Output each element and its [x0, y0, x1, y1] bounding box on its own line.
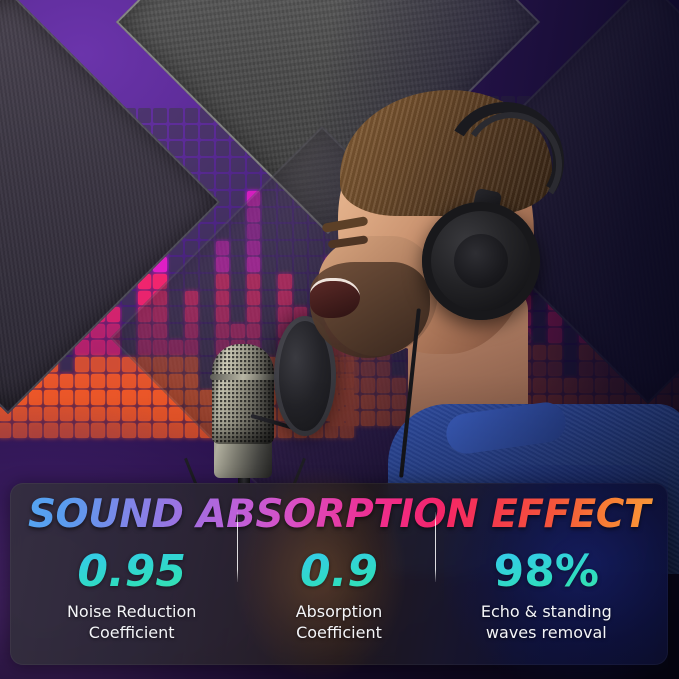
- product-banner: SOUND ABSORPTION EFFECT 0.95 Noise Reduc…: [0, 0, 679, 679]
- stats-row: 0.95 Noise Reduction Coefficient 0.9 Abs…: [10, 547, 668, 643]
- stat-divider-1: [237, 512, 238, 582]
- stat-absorption-coefficient: 0.9 Absorption Coefficient: [235, 547, 442, 643]
- stat-label-line2: Coefficient: [296, 623, 382, 642]
- stat-noise-reduction-coefficient: 0.95 Noise Reduction Coefficient: [28, 547, 235, 643]
- sound-absorption-panel: SOUND ABSORPTION EFFECT 0.95 Noise Reduc…: [10, 483, 668, 665]
- stat-label-line1: Noise Reduction: [67, 602, 196, 621]
- panel-title: SOUND ABSORPTION EFFECT: [10, 493, 668, 537]
- stat-echo-waves-removal: 98% Echo & standing waves removal: [443, 547, 650, 643]
- stat-label-line1: Absorption: [296, 602, 383, 621]
- stat-label: Echo & standing waves removal: [443, 601, 650, 643]
- stat-label-line1: Echo & standing: [481, 602, 612, 621]
- stat-value: 0.9: [235, 547, 442, 597]
- stat-label: Absorption Coefficient: [235, 601, 442, 643]
- stat-label-line2: Coefficient: [89, 623, 175, 642]
- stat-value: 0.95: [28, 547, 235, 597]
- stat-label-line2: waves removal: [486, 623, 607, 642]
- stat-divider-2: [435, 512, 436, 582]
- stat-value: 98%: [443, 547, 650, 597]
- stat-label: Noise Reduction Coefficient: [28, 601, 235, 643]
